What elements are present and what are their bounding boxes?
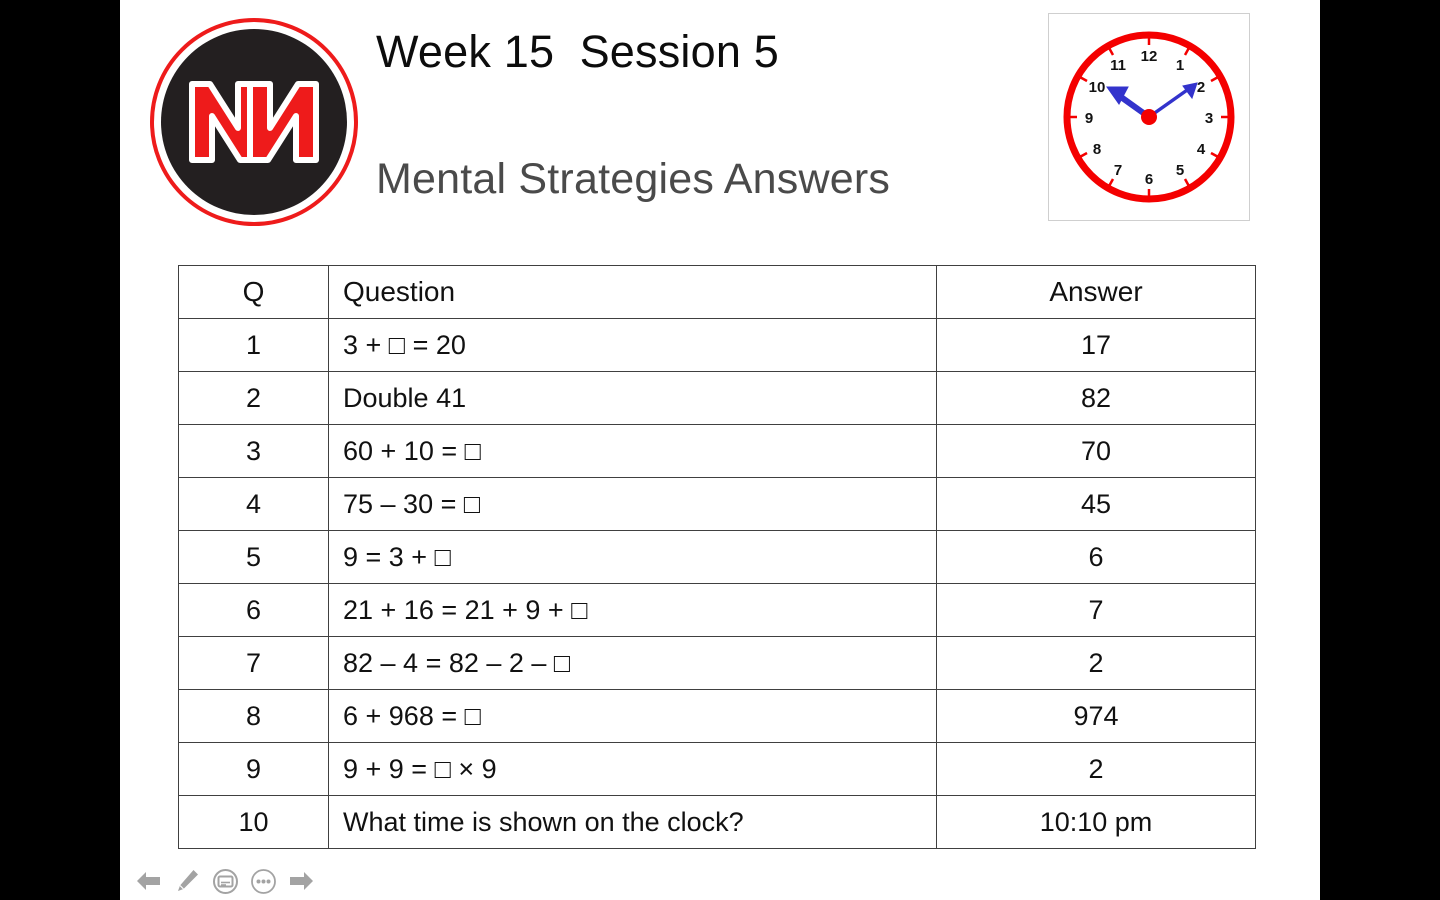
slide-subtitle: Mental Strategies Answers xyxy=(376,155,890,204)
table-row: 6 21 + 16 = 21 + 9 + □ 7 xyxy=(179,584,1256,637)
svg-text:6: 6 xyxy=(1145,171,1153,188)
cell-question: 75 – 30 = □ xyxy=(329,478,937,531)
cell-answer: 2 xyxy=(937,637,1256,690)
cell-question: 21 + 16 = 21 + 9 + □ xyxy=(329,584,937,637)
nn-letters-icon xyxy=(150,18,358,226)
slide-header: Week 15 Session 5 Mental Strategies Answ… xyxy=(120,0,1320,240)
cell-answer: 82 xyxy=(937,372,1256,425)
more-options-button[interactable] xyxy=(248,866,278,896)
column-header-question: Question xyxy=(329,266,937,319)
svg-text:9: 9 xyxy=(1085,110,1093,127)
cell-question: 82 – 4 = 82 – 2 – □ xyxy=(329,637,937,690)
table-row: 10 What time is shown on the clock? 10:1… xyxy=(179,796,1256,849)
pen-icon xyxy=(174,868,200,894)
svg-text:10: 10 xyxy=(1089,79,1106,96)
analog-clock-image: 12 1 2 3 4 5 6 7 8 9 10 11 xyxy=(1048,13,1250,221)
column-header-answer: Answer xyxy=(937,266,1256,319)
table-row: 9 9 + 9 = □ × 9 2 xyxy=(179,743,1256,796)
cell-question: What time is shown on the clock? xyxy=(329,796,937,849)
table-header-row: Q Question Answer xyxy=(179,266,1256,319)
svg-text:3: 3 xyxy=(1205,110,1213,127)
cell-answer: 17 xyxy=(937,319,1256,372)
cell-q: 2 xyxy=(179,372,329,425)
cell-q: 8 xyxy=(179,690,329,743)
cell-question: Double 41 xyxy=(329,372,937,425)
cell-q: 1 xyxy=(179,319,329,372)
table-row: 7 82 – 4 = 82 – 2 – □ 2 xyxy=(179,637,1256,690)
cell-question: 60 + 10 = □ xyxy=(329,425,937,478)
answers-table: Q Question Answer 1 3 + □ = 20 17 2 Doub… xyxy=(178,265,1256,849)
cell-question: 9 + 9 = □ × 9 xyxy=(329,743,937,796)
pillarbox-right xyxy=(1320,0,1440,900)
pen-tool-button[interactable] xyxy=(172,866,202,896)
pillarbox-left xyxy=(0,0,120,900)
cell-q: 9 xyxy=(179,743,329,796)
slideshow-toolbar xyxy=(134,866,316,896)
slide-title: Week 15 Session 5 xyxy=(376,26,779,78)
presentation-view-button[interactable] xyxy=(210,866,240,896)
cell-answer: 2 xyxy=(937,743,1256,796)
svg-text:4: 4 xyxy=(1197,141,1206,158)
screen: Week 15 Session 5 Mental Strategies Answ… xyxy=(0,0,1440,900)
cell-answer: 7 xyxy=(937,584,1256,637)
cell-question: 6 + 968 = □ xyxy=(329,690,937,743)
table-row: 2 Double 41 82 xyxy=(179,372,1256,425)
three-dots-icon xyxy=(250,868,277,895)
nn-logo xyxy=(150,18,358,226)
cell-q: 5 xyxy=(179,531,329,584)
clock-face-icon: 12 1 2 3 4 5 6 7 8 9 10 11 xyxy=(1049,14,1249,220)
cell-q: 4 xyxy=(179,478,329,531)
cell-answer: 974 xyxy=(937,690,1256,743)
cell-q: 10 xyxy=(179,796,329,849)
previous-slide-button[interactable] xyxy=(134,866,164,896)
cell-answer: 45 xyxy=(937,478,1256,531)
cell-question: 3 + □ = 20 xyxy=(329,319,937,372)
svg-text:2: 2 xyxy=(1197,79,1205,96)
column-header-q: Q xyxy=(179,266,329,319)
table-row: 3 60 + 10 = □ 70 xyxy=(179,425,1256,478)
next-slide-button[interactable] xyxy=(286,866,316,896)
slide-canvas: Week 15 Session 5 Mental Strategies Answ… xyxy=(120,0,1320,900)
svg-text:12: 12 xyxy=(1141,48,1158,65)
svg-text:1: 1 xyxy=(1176,57,1184,74)
svg-text:5: 5 xyxy=(1176,162,1184,179)
next-slide-arrow-icon xyxy=(288,869,314,893)
cell-q: 7 xyxy=(179,637,329,690)
cell-answer: 10:10 pm xyxy=(937,796,1256,849)
cell-question: 9 = 3 + □ xyxy=(329,531,937,584)
svg-text:7: 7 xyxy=(1114,162,1122,179)
previous-slide-arrow-icon xyxy=(136,869,162,893)
cell-q: 6 xyxy=(179,584,329,637)
table-row: 4 75 – 30 = □ 45 xyxy=(179,478,1256,531)
table-row: 1 3 + □ = 20 17 xyxy=(179,319,1256,372)
table-row: 8 6 + 968 = □ 974 xyxy=(179,690,1256,743)
svg-text:8: 8 xyxy=(1093,141,1101,158)
cell-q: 3 xyxy=(179,425,329,478)
presentation-icon xyxy=(212,868,239,895)
table-row: 5 9 = 3 + □ 6 xyxy=(179,531,1256,584)
svg-text:11: 11 xyxy=(1110,57,1126,74)
cell-answer: 6 xyxy=(937,531,1256,584)
cell-answer: 70 xyxy=(937,425,1256,478)
